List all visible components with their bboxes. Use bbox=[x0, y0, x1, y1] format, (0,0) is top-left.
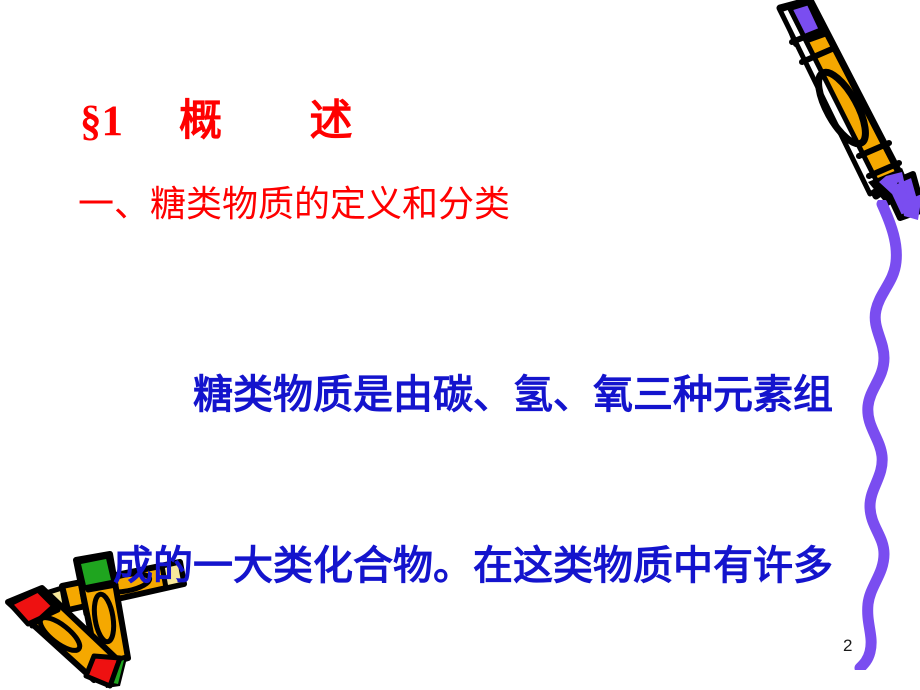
page-number: 2 bbox=[843, 636, 852, 656]
slide-subtitle: 一、糖类物质的定义和分类 bbox=[78, 182, 510, 226]
orange-crayon-purple-tip bbox=[752, 0, 920, 226]
body-line: 糖类物质是由碳、氢、氧三种元素组 bbox=[113, 366, 873, 423]
slide-body-text: 糖类物质是由碳、氢、氧三种元素组 成的一大类化合物。在这类物质中有许多 氢和氧的… bbox=[113, 252, 873, 690]
body-line: 成的一大类化合物。在这类物质中有许多 bbox=[113, 537, 873, 594]
slide-title: §1概 述 bbox=[80, 92, 375, 150]
section-mark: §1 bbox=[80, 98, 123, 145]
title-heading: 概 述 bbox=[179, 98, 375, 145]
presentation-slide: §1概 述 一、糖类物质的定义和分类 糖类物质是由碳、氢、氧三种元素组 成的一大… bbox=[0, 0, 920, 690]
